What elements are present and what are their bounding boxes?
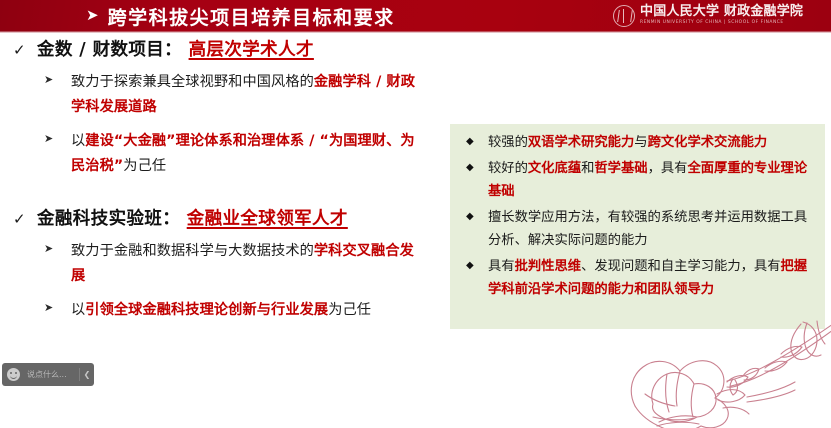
section-title-highlight: 高层次学术人才 [189, 40, 314, 60]
section-heading: ✓ 金融科技实验班： 金融业全球领军人才 [0, 205, 452, 230]
section-fintech-class: ✓ 金融科技实验班： 金融业全球领军人才 ➤ 致力于金融和数据科学与大数据技术的… [0, 205, 452, 323]
section-heading: ✓ 金数 / 财数项目： 高层次学术人才 [0, 36, 452, 61]
text-segment: 以 [71, 302, 85, 318]
list-item: ➤ 以引领全球金融科技理论创新与行业发展为己任 [0, 298, 452, 323]
text-segment: 为己任 [123, 158, 166, 174]
right-triangle-arrow-icon: ➤ [44, 298, 71, 317]
chat-input-bar[interactable]: 说点什么... ❮ [2, 363, 94, 386]
text-segment-highlight: 哲学基础 [594, 161, 647, 176]
list-item: ◆ 较强的双语学术研究能力与跨文化学术交流能力 [460, 131, 817, 154]
chevron-left-icon[interactable]: ❮ [80, 370, 94, 379]
list-item-text: 以引领全球金融科技理论创新与行业发展为己任 [71, 298, 417, 323]
text-segment-highlight: 文化底蕴 [528, 161, 581, 176]
chat-input[interactable]: 说点什么... [27, 369, 79, 380]
list-item: ◆ 较好的文化底蕴和哲学基础，具有全面厚重的专业理论基础 [460, 157, 817, 203]
diamond-bullet-icon: ◆ [460, 206, 488, 228]
checkmark-icon: ✓ [13, 212, 37, 227]
list-item-text: 致力于金融和数据科学与大数据技术的学科交叉融合发展 [71, 239, 417, 289]
text-segment: 具有 [488, 259, 515, 274]
smiley-emoji-icon[interactable] [7, 368, 20, 381]
text-segment: ，具有 [648, 161, 688, 176]
list-item: ➤ 以建设“大金融”理论体系和治理体系 / “为国理财、为民治税”为己任 [0, 129, 452, 179]
list-item-text: 较好的文化底蕴和哲学基础，具有全面厚重的专业理论基础 [488, 157, 816, 203]
text-segment-highlight: 批判性思维 [515, 259, 581, 274]
text-segment: 较强的 [488, 135, 528, 150]
text-segment: 较好的 [488, 161, 528, 176]
list-item-text: 较强的双语学术研究能力与跨文化学术交流能力 [488, 131, 816, 154]
text-segment: 和 [581, 161, 594, 176]
right-triangle-arrow-icon: ➤ [44, 239, 71, 258]
left-content-column: ✓ 金数 / 财数项目： 高层次学术人才 ➤ 致力于探索兼具全球视野和中国风格的… [0, 36, 452, 327]
university-seal-icon [613, 5, 635, 27]
university-logo: 中国人民大学 财政金融学院 RENMIN UNIVERSITY OF CHINA… [613, 2, 825, 30]
text-segment: 以 [71, 133, 85, 149]
text-segment-highlight: 双语学术研究能力 [528, 135, 634, 150]
right-triangle-arrow-icon: ➤ [44, 129, 71, 148]
right-triangle-arrow-icon: ➤ [86, 8, 99, 23]
diamond-bullet-icon: ◆ [460, 255, 488, 277]
text-segment-highlight: 引领全球金融科技理论创新与行业发展 [85, 302, 328, 318]
text-segment: 为己任 [328, 302, 371, 318]
logo-name-en: RENMIN UNIVERSITY OF CHINA | SCHOOL OF F… [640, 19, 803, 27]
list-item-text: 以建设“大金融”理论体系和治理体系 / “为国理财、为民治税”为己任 [71, 129, 417, 179]
section-title: 金数 / 财数项目： 高层次学术人才 [37, 36, 314, 61]
text-segment-highlight: 跨文化学术交流能力 [648, 135, 768, 150]
list-item-text: 致力于探索兼具全球视野和中国风格的金融学科 / 财政学科发展道路 [71, 70, 417, 120]
logo-name-cn: 中国人民大学 财政金融学院 [640, 5, 803, 19]
section-title-plain: 金融科技实验班： [37, 209, 180, 229]
checkmark-icon: ✓ [13, 43, 37, 58]
list-item-text: 具有批判性思维、发现问题和自主学习能力，具有把握学科前沿学术问题的能力和团队领导… [488, 255, 816, 301]
text-segment: 致力于金融和数据科学与大数据技术的 [71, 243, 314, 259]
diamond-bullet-icon: ◆ [460, 157, 488, 179]
list-item-text: 擅长数学应用方法，有较强的系统思考并运用数据工具分析、解决实际问题的能力 [488, 206, 816, 252]
slide-canvas: ➤ 跨学科拔尖项目培养目标和要求 中国人民大学 财政金融学院 RENMIN UN… [0, 0, 831, 428]
list-item: ◆ 具有批判性思维、发现问题和自主学习能力，具有把握学科前沿学术问题的能力和团队… [460, 255, 817, 301]
section-title-plain: 金数 / 财数项目： [37, 40, 182, 60]
page-title: 跨学科拔尖项目培养目标和要求 [108, 3, 395, 30]
diamond-bullet-icon: ◆ [460, 131, 488, 153]
text-segment: 与 [634, 135, 647, 150]
section-jinshu-caishu: ✓ 金数 / 财数项目： 高层次学术人才 ➤ 致力于探索兼具全球视野和中国风格的… [0, 36, 452, 179]
text-segment: 致力于探索兼具全球视野和中国风格的 [71, 74, 314, 90]
logo-text-block: 中国人民大学 财政金融学院 RENMIN UNIVERSITY OF CHINA… [640, 5, 803, 27]
right-triangle-arrow-icon: ➤ [44, 70, 71, 89]
list-item: ➤ 致力于金融和数据科学与大数据技术的学科交叉融合发展 [0, 239, 452, 289]
list-item: ◆ 擅长数学应用方法，有较强的系统思考并运用数据工具分析、解决实际问题的能力 [460, 206, 817, 252]
text-segment: 擅长数学应用方法，有较强的系统思考并运用数据工具分析、解决实际问题的能力 [488, 210, 807, 248]
competencies-callout-box: ◆ 较强的双语学术研究能力与跨文化学术交流能力 ◆ 较好的文化底蕴和哲学基础，具… [450, 124, 825, 329]
magnolia-flower-watermark-icon [595, 318, 831, 428]
text-segment: 、发现问题和自主学习能力，具有 [581, 259, 780, 274]
header-divider [0, 31, 831, 33]
section-title: 金融科技实验班： 金融业全球领军人才 [37, 205, 348, 230]
section-title-highlight: 金融业全球领军人才 [187, 209, 348, 229]
list-item: ➤ 致力于探索兼具全球视野和中国风格的金融学科 / 财政学科发展道路 [0, 70, 452, 120]
